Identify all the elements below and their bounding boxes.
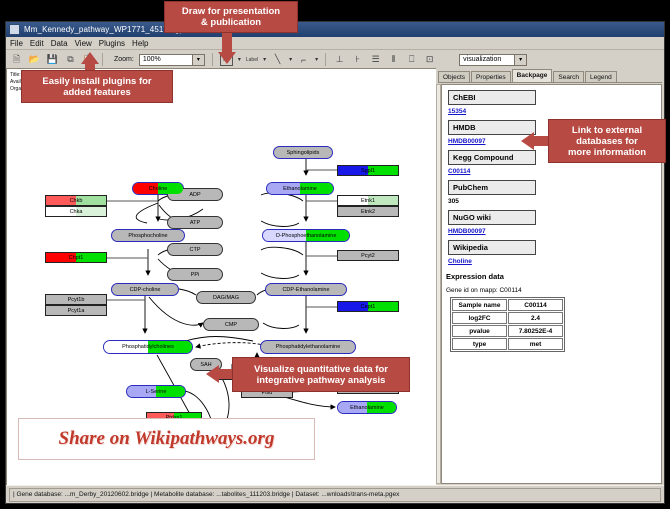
callout-line-2: databases for: [576, 136, 638, 147]
db-link-nugo-wiki[interactable]: HMDB00097: [448, 228, 661, 235]
zoom-value: 100%: [143, 56, 161, 63]
status-bar: | Gene database: ...m_Derby_20120602.bri…: [6, 485, 664, 503]
exp-value-log2fc: 2.4: [508, 312, 563, 324]
callout-line-1: Easily install plugins for: [42, 76, 151, 87]
node-label: Ethanolamine: [283, 186, 317, 192]
callout-link-to-external-databases: Link to external databases for more info…: [548, 119, 666, 163]
callout-link-arrow-left-icon: [521, 132, 534, 150]
new-file-icon[interactable]: 🗎: [10, 53, 23, 66]
node-label: DAG/MAG: [213, 295, 239, 301]
node-label: Chkb: [70, 198, 83, 204]
status-text: | Gene database: ...m_Derby_20120602.bri…: [9, 488, 661, 502]
visualization-combobox[interactable]: visualization ▾: [459, 54, 527, 66]
tab-backpage[interactable]: Backpage: [512, 69, 553, 82]
menu-item-data[interactable]: Data: [51, 39, 68, 48]
share-banner-text: Share on Wikipathways.org: [59, 428, 275, 450]
node-label: Chpt1: [69, 255, 84, 261]
node-cdp-choline[interactable]: CDP-choline: [111, 283, 179, 296]
table-row: log2FC 2.4: [452, 312, 563, 324]
node-l-serine-left[interactable]: L-Serine: [126, 385, 186, 398]
node-label: Sphingolipids: [287, 150, 320, 156]
gene-cept1[interactable]: Cept1: [337, 301, 399, 312]
gene-pcyt2[interactable]: Pcyt2: [337, 250, 399, 261]
copy-icon[interactable]: ⧉: [64, 53, 77, 66]
node-label: Phosphocholine: [128, 233, 167, 239]
exp-value-sample-name: C00114: [508, 299, 563, 311]
gene-chkb[interactable]: Chkb: [45, 195, 107, 206]
chevron-down-icon[interactable]: ▾: [192, 55, 204, 65]
callout-plugins-arrow-up-icon: [81, 52, 99, 64]
node-label: Choline: [149, 186, 168, 192]
db-value-pubchem: 305: [448, 198, 661, 205]
exp-value-type: met: [508, 338, 563, 350]
db-title-nugo-wiki: NuGO wiki: [448, 210, 536, 225]
gene-etnk2[interactable]: Etnk2: [337, 206, 399, 217]
node-label: Pcyt2: [361, 253, 375, 259]
label-tool-chevron-down-icon[interactable]: ▾: [263, 56, 266, 63]
node-label: ATP: [190, 220, 200, 226]
node-label: Phosphatidylcholines: [122, 344, 174, 350]
screenshot-root: Mm_Kennedy_pathway_WP1771_45176.gpml Fil…: [0, 0, 670, 509]
connector-tool-icon[interactable]: ⌐: [297, 53, 310, 66]
node-label: Sgpl1: [361, 168, 375, 174]
node-label: ADP: [189, 192, 200, 198]
toolbar-separator-1: [102, 53, 103, 66]
node-phosphatidylcholines[interactable]: Phosphatidylcholines: [103, 340, 193, 354]
node-dag-mag[interactable]: DAG/MAG: [196, 291, 256, 304]
toolbar-separator-2: [212, 53, 213, 66]
callout-visualize-quantitative-data: Visualize quantitative data for integrat…: [232, 357, 410, 392]
callout-visualize-arrow-left-icon: [206, 365, 219, 383]
align-top-icon[interactable]: ⊥: [333, 53, 346, 66]
callout-easily-install-plugins: Easily install plugins for added feature…: [21, 70, 173, 103]
callout-line-2: integrative pathway analysis: [257, 375, 386, 386]
node-label: O-Phosphoethanolamine: [276, 233, 337, 239]
node-label: Ethanolamine: [350, 405, 384, 411]
db-title-wikipedia: Wikipedia: [448, 240, 536, 255]
menu-item-plugins[interactable]: Plugins: [99, 39, 125, 48]
db-link-wikipedia[interactable]: Choline: [448, 258, 661, 265]
db-link-chebi[interactable]: 15354: [448, 108, 661, 115]
gene-chka[interactable]: Chka: [45, 206, 107, 217]
node-sphingolipids[interactable]: Sphingolipids: [273, 146, 333, 159]
callout-draw-for-presentation: Draw for presentation & publication: [164, 1, 298, 33]
zoom-combobox[interactable]: 100% ▾: [139, 54, 205, 66]
callout-line-1: Link to external: [572, 125, 642, 136]
node-phosphocholine[interactable]: Phosphocholine: [111, 229, 185, 242]
node-phosphatidylethanolamine[interactable]: Phosphatidylethanolamine: [260, 340, 356, 354]
node-label: CMP: [225, 322, 237, 328]
zoom-label: Zoom:: [114, 56, 134, 63]
visualization-value: visualization: [463, 56, 501, 63]
distribute-vertical-icon[interactable]: ☰: [369, 53, 382, 66]
window-titlebar: Mm_Kennedy_pathway_WP1771_45176.gpml: [6, 22, 664, 37]
node-label: Pcyt1a: [68, 308, 85, 314]
menu-item-view[interactable]: View: [75, 39, 92, 48]
menu-item-help[interactable]: Help: [132, 39, 148, 48]
menu-bar: File Edit Data View Plugins Help: [6, 37, 664, 50]
menu-item-edit[interactable]: Edit: [30, 39, 44, 48]
table-row: Sample name C00114: [452, 299, 563, 311]
connector-tool-chevron-down-icon[interactable]: ▾: [315, 56, 318, 63]
line-tool-chevron-down-icon[interactable]: ▾: [289, 56, 292, 63]
node-label: PPi: [191, 272, 200, 278]
callout-draw-stem: [222, 33, 232, 53]
node-cmp[interactable]: CMP: [203, 318, 259, 331]
node-label: Pcyt1b: [68, 297, 85, 303]
callout-draw-arrow-down-icon: [218, 52, 236, 64]
callout-line-2: added features: [63, 87, 131, 98]
line-tool-icon[interactable]: ╲: [271, 53, 284, 66]
node-ctp[interactable]: CTP: [167, 243, 223, 256]
node-label: CDP-choline: [130, 287, 161, 293]
share-banner: Share on Wikipathways.org: [18, 418, 315, 460]
db-title-chebi: ChEBI: [448, 90, 536, 105]
gene-pcyt1b[interactable]: Pcyt1b: [45, 294, 107, 305]
callout-line-1: Draw for presentation: [182, 6, 280, 17]
expression-data-heading: Expression data: [446, 272, 661, 281]
gene-pcyt1a[interactable]: Pcyt1a: [45, 305, 107, 316]
exp-label-sample-name: Sample name: [452, 299, 507, 311]
db-link-kegg-compound[interactable]: C00114: [448, 168, 661, 175]
gene-chpt1[interactable]: Chpt1: [45, 252, 107, 263]
gene-etnk1[interactable]: Etnk1: [337, 195, 399, 206]
stack-icon[interactable]: ⎕: [405, 53, 418, 66]
label-tool-icon[interactable]: Label: [246, 57, 258, 63]
node-label: L-Serine: [146, 389, 167, 395]
node-ethanolamine[interactable]: Ethanolamine: [266, 182, 334, 195]
db-title-pubchem: PubChem: [448, 180, 536, 195]
node-label: Etnk2: [361, 209, 375, 215]
app-icon: [9, 24, 20, 35]
callout-line-3: more information: [568, 147, 646, 158]
node-label: Cept1: [361, 304, 376, 310]
expression-table: Sample name C00114 log2FC 2.4 pvalue 7.8…: [450, 297, 565, 352]
exp-label-type: type: [452, 338, 507, 350]
group-icon[interactable]: ⊡: [423, 53, 436, 66]
gene-id-line: Gene id on mapp: C00114: [446, 287, 661, 294]
node-cdp-ethanolamine[interactable]: CDP-Ethanolamine: [265, 283, 347, 296]
exp-label-pvalue: pvalue: [452, 325, 507, 337]
gene-sgpl1[interactable]: Sgpl1: [337, 165, 399, 176]
align-left-icon[interactable]: ⊦: [351, 53, 364, 66]
text-tool-chevron-down-icon[interactable]: ▾: [238, 56, 241, 63]
node-label: Etnk1: [361, 198, 375, 204]
node-label: CDP-Ethanolamine: [282, 287, 329, 293]
table-row: pvalue 7.80252E-4: [452, 325, 563, 337]
node-ethanolamine-right[interactable]: Ethanolamine: [337, 401, 397, 414]
node-choline-top[interactable]: Choline: [132, 182, 184, 195]
menu-item-file[interactable]: File: [10, 39, 23, 48]
callout-line-1: Visualize quantitative data for: [254, 364, 388, 375]
distribute-horizontal-icon[interactable]: ⦀: [387, 53, 400, 66]
visualization-chevron-down-icon[interactable]: ▾: [514, 55, 526, 65]
node-ppi[interactable]: PPi: [167, 268, 223, 281]
toolbar-separator-3: [325, 53, 326, 66]
main-toolbar: 🗎 📂 💾 ⧉ 📋 Zoom: 100% ▾ aN ▾ Label ▾ ╲ ▾ …: [6, 50, 664, 70]
node-o-phosphoethanolamine[interactable]: O-Phosphoethanolamine: [262, 229, 350, 242]
node-atp[interactable]: ATP: [167, 216, 223, 229]
tab-underline: [438, 82, 662, 83]
open-folder-icon[interactable]: 📂: [28, 53, 41, 66]
save-icon[interactable]: 💾: [46, 53, 59, 66]
node-label: Phosphatidylethanolamine: [276, 344, 341, 350]
exp-value-pvalue: 7.80252E-4: [508, 325, 563, 337]
node-label: Chka: [70, 209, 83, 215]
table-row: type met: [452, 338, 563, 350]
callout-line-2: & publication: [201, 17, 261, 28]
db-title-kegg-compound: Kegg Compound: [448, 150, 536, 165]
exp-label-log2fc: log2FC: [452, 312, 507, 324]
node-label: CTP: [190, 247, 201, 253]
